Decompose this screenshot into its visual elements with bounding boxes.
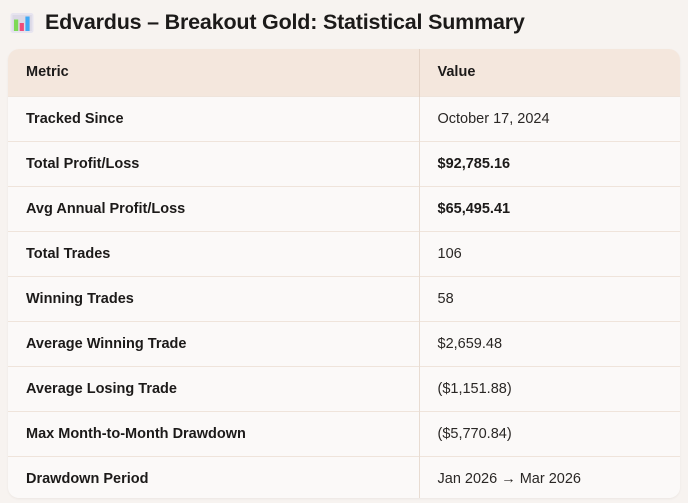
table-row: Max Month-to-Month Drawdown($5,770.84): [8, 411, 680, 456]
cell-metric: Winning Trades: [8, 276, 419, 321]
column-header-value: Value: [419, 49, 680, 96]
column-header-metric: Metric: [8, 49, 419, 96]
table-row: Total Profit/Loss$92,785.16: [8, 141, 680, 186]
cell-value: 106: [419, 231, 680, 276]
table-row: Average Winning Trade$2,659.48: [8, 321, 680, 366]
cell-value: $2,659.48: [419, 321, 680, 366]
bar-chart-icon: [9, 10, 35, 36]
cell-value: $65,495.41: [419, 186, 680, 231]
cell-metric: Average Losing Trade: [8, 366, 419, 411]
cell-metric: Average Winning Trade: [8, 321, 419, 366]
cell-metric: Avg Annual Profit/Loss: [8, 186, 419, 231]
table-row: Average Losing Trade($1,151.88): [8, 366, 680, 411]
cell-value: Jan 2026 → Mar 2026: [419, 456, 680, 498]
cell-value: October 17, 2024: [419, 96, 680, 141]
statistical-summary-page: Edvardus – Breakout Gold: Statistical Su…: [0, 0, 688, 503]
cell-metric: Total Profit/Loss: [8, 141, 419, 186]
cell-metric: Tracked Since: [8, 96, 419, 141]
statistics-table: Metric Value Tracked SinceOctober 17, 20…: [8, 49, 680, 498]
table-header: Metric Value: [8, 49, 680, 96]
cell-value: ($5,770.84): [419, 411, 680, 456]
table-body: Tracked SinceOctober 17, 2024Total Profi…: [8, 96, 680, 498]
table-row: Tracked SinceOctober 17, 2024: [8, 96, 680, 141]
cell-metric: Max Month-to-Month Drawdown: [8, 411, 419, 456]
cell-metric: Total Trades: [8, 231, 419, 276]
page-header: Edvardus – Breakout Gold: Statistical Su…: [0, 0, 688, 38]
cell-value: 58: [419, 276, 680, 321]
cell-value: $92,785.16: [419, 141, 680, 186]
table-row: Drawdown PeriodJan 2026 → Mar 2026: [8, 456, 680, 498]
table-header-row: Metric Value: [8, 49, 680, 96]
table-row: Winning Trades58: [8, 276, 680, 321]
cell-metric: Drawdown Period: [8, 456, 419, 498]
page-title: Edvardus – Breakout Gold: Statistical Su…: [45, 12, 525, 34]
table-row: Avg Annual Profit/Loss$65,495.41: [8, 186, 680, 231]
cell-value: ($1,151.88): [419, 366, 680, 411]
table-row: Total Trades106: [8, 231, 680, 276]
statistics-table-container: Metric Value Tracked SinceOctober 17, 20…: [8, 49, 680, 498]
